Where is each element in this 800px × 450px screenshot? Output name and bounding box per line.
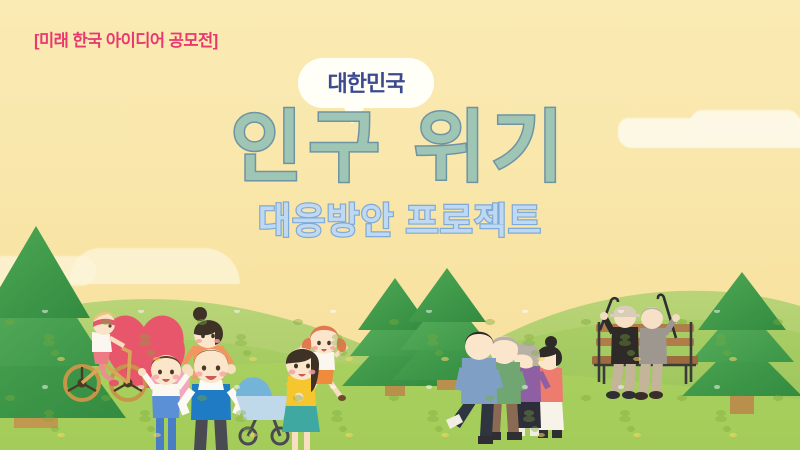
- blue-leg-right: [480, 400, 494, 436]
- elder-right-shoe-back: [649, 391, 663, 399]
- girl-hair-bun: [193, 307, 207, 321]
- elder-left-hand: [600, 312, 608, 320]
- child-shorts: [93, 350, 110, 364]
- boy-leg-right: [168, 414, 176, 450]
- speech-bubble: 대한민국: [298, 58, 434, 108]
- tree-layer-top: [408, 268, 486, 322]
- coral-shoe-left: [538, 430, 548, 438]
- elder-right-jacket: [639, 328, 667, 364]
- green-leg-right: [506, 400, 519, 432]
- father-leg-right: [214, 416, 228, 450]
- elder-left-shoe-back: [622, 391, 636, 399]
- elder-left-shoe-front: [606, 391, 620, 399]
- father-hand-left: [182, 364, 192, 374]
- speech-bubble-text: 대한민국: [328, 66, 405, 98]
- boy-cheek-right: [173, 375, 180, 380]
- coral-hair-bun: [545, 336, 557, 348]
- elder-left-sweater: [611, 327, 639, 364]
- child-shoe: [109, 380, 119, 387]
- elder-right-leg-back: [651, 362, 663, 392]
- green-arm-right: [519, 372, 524, 390]
- tree-layer-top: [358, 278, 432, 330]
- elder-left-leg-back: [624, 362, 636, 392]
- father-leg-left: [194, 416, 208, 450]
- father-cheek-left: [195, 371, 202, 376]
- blue-arm-right: [495, 370, 500, 388]
- page-title: 인구 위기: [0, 108, 800, 186]
- father-cheek-right: [219, 371, 226, 376]
- page-subtitle: 대응방안 프로젝트: [0, 203, 800, 239]
- boy-cheek-left: [153, 375, 160, 380]
- mother-skirt: [282, 404, 320, 432]
- blue-arm-left: [458, 368, 463, 390]
- elder-right-shoe-front: [634, 392, 648, 400]
- elder-right-hand: [672, 314, 680, 322]
- green-shoe-right: [507, 432, 522, 440]
- contest-tagline: [미래 한국 아이디어 공모전]: [34, 27, 218, 51]
- boy-leg-left: [156, 414, 164, 450]
- coral-shoe-right: [552, 430, 562, 438]
- mother-hand: [295, 393, 304, 402]
- boy-shirt: [152, 384, 180, 396]
- blue-shoe-right: [478, 436, 493, 444]
- child-shirt: [92, 332, 112, 352]
- purple-shoe-right: [530, 428, 539, 436]
- stroller-basket: [236, 396, 290, 420]
- tree-layer-top: [0, 226, 90, 318]
- blue-top: [461, 358, 497, 404]
- poster-canvas: [미래 한국 아이디어 공모전] 대한민국 인구 위기 대응방안 프로젝트: [0, 0, 800, 450]
- boy-hand-left: [138, 368, 146, 376]
